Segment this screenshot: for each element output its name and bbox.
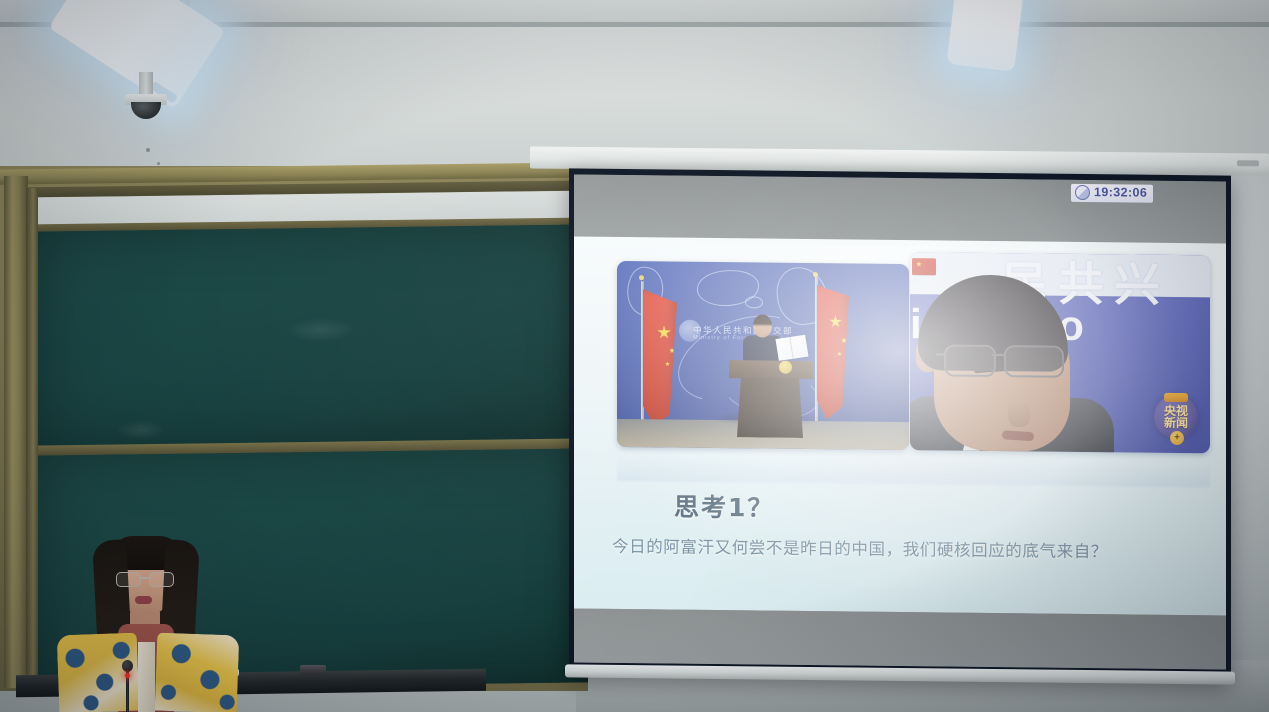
speaker-head [753, 314, 772, 337]
blackboard-side-post [4, 176, 28, 688]
flag-star-small [837, 351, 842, 356]
chinese-flag [635, 275, 689, 442]
spokesperson-head [916, 274, 1092, 452]
slide-heading: 思考1？ [674, 488, 774, 525]
classroom-photo-scene: 19:32:06 中华人民共和国外交部 Ministry of Foreign … [0, 0, 1269, 712]
document-spine [789, 337, 794, 359]
fluorescent-tube-light [946, 0, 1025, 72]
spokesperson-glasses-icon [940, 344, 1066, 375]
podium-seal-icon [779, 361, 792, 374]
clock-icon [1075, 185, 1090, 200]
flag-star-large [829, 315, 842, 328]
flag-star-small [841, 337, 847, 343]
photo-mfa-press-briefing: 中华人民共和国外交部 Ministry of Foreign Affairs [617, 261, 909, 450]
flag-star-large [657, 325, 671, 339]
projected-image-surface: 19:32:06 中华人民共和国外交部 Ministry of Foreign … [574, 174, 1226, 669]
glasses-lens-left [944, 344, 996, 377]
projector-screen: 19:32:06 中华人民共和国外交部 Ministry of Foreign … [569, 168, 1231, 683]
photo-reflection [617, 449, 1210, 487]
timestamp-text: 19:32:06 [1094, 186, 1147, 200]
housing-end-cap [1237, 160, 1259, 166]
speaking-podium [729, 360, 813, 439]
student-presenter [52, 538, 242, 712]
wall-fixing [157, 162, 160, 165]
podium-top [729, 360, 813, 379]
timestamp-overlay: 19:32:06 [1071, 184, 1153, 203]
presenter-glasses-icon [116, 572, 174, 585]
desk-microphone [120, 660, 134, 712]
flag-star-small [669, 348, 675, 354]
logo-text-bottom: 新闻 [1159, 417, 1193, 429]
flag-cloth [817, 285, 849, 419]
presenter-mouth [135, 596, 152, 604]
glasses-lens-left [116, 572, 141, 587]
flag-finial [639, 275, 644, 280]
dome-security-camera-icon [122, 72, 170, 120]
presenter-cardigan-placket [138, 642, 155, 712]
presentation-slide: 中华人民共和国外交部 Ministry of Foreign Affairs [574, 236, 1226, 615]
logo-plus-icon: + [1170, 431, 1184, 445]
blackboard-panel-upper [36, 224, 588, 447]
flag-star-small [916, 261, 922, 267]
logo-ribbon [1164, 393, 1188, 402]
flag-cloth [643, 289, 677, 425]
slide-subtext: 今日的阿富汗又何尝不是昨日的中国，我们硬核回应的底气来自？ [612, 533, 1192, 563]
glasses-bridge [139, 577, 151, 579]
blackboard-eraser [300, 665, 326, 675]
microphone-led-indicator [125, 673, 130, 678]
flag-star-small [665, 361, 670, 366]
wall-fixing [146, 148, 150, 152]
chinese-flag-icon [912, 258, 936, 275]
nose [1008, 401, 1030, 427]
camera-dome [131, 102, 161, 119]
presenter-cardigan-right [155, 633, 240, 712]
glasses-lens-right [149, 572, 174, 587]
glasses-lens-right [1004, 345, 1064, 378]
photo-spokesperson-closeup: 民共兴 i of Fo [910, 252, 1210, 453]
chalk-smudge [286, 317, 356, 342]
open-document [775, 335, 808, 361]
letterbox-band-bottom [574, 608, 1226, 669]
mouth [1002, 430, 1034, 441]
cctv-news-logo: 央视 新闻 + [1154, 395, 1202, 444]
chalk-smudge [116, 420, 166, 441]
world-map-outline [745, 296, 763, 308]
blackboard-side-post-inner [26, 188, 38, 688]
podium-body [737, 377, 803, 438]
